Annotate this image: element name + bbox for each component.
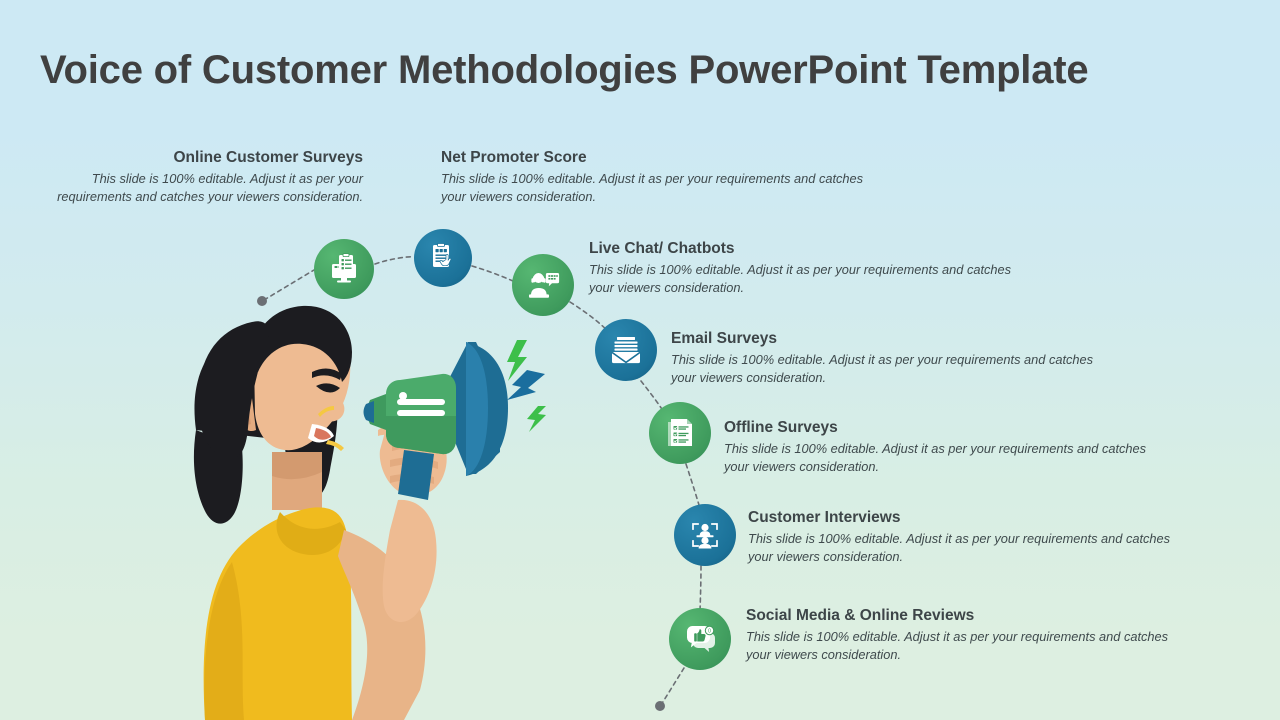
icon-node-social-media-online-reviews[interactable]: 0 (669, 608, 731, 670)
face (254, 312, 350, 450)
connector-segment-3 (472, 266, 513, 281)
checklist-document-icon (663, 416, 697, 450)
body-live-chat-chatbots: This slide is 100% editable. Adjust it a… (589, 261, 1014, 297)
heading-customer-interviews: Customer Interviews (748, 509, 1173, 527)
connector-endpoint-end (655, 701, 665, 711)
shout-marks (318, 406, 344, 451)
icon-node-online-customer-surveys[interactable] (314, 239, 374, 299)
body-customer-interviews: This slide is 100% editable. Adjust it a… (748, 530, 1173, 566)
text-block-live-chat-chatbots: Live Chat/ Chatbots This slide is 100% e… (589, 240, 1014, 297)
megaphone-body (386, 374, 456, 454)
megaphone-cap (367, 394, 386, 430)
connector-segment-7 (700, 566, 701, 613)
megaphone-horn-outer (466, 342, 508, 476)
megaphone-horn-light (466, 342, 488, 476)
icon-node-offline-surveys[interactable] (649, 402, 711, 464)
connector-segment-8 (661, 668, 684, 705)
page-title: Voice of Customer Methodologies PowerPoi… (40, 48, 1088, 93)
arm (338, 530, 425, 720)
svg-text:0: 0 (708, 629, 711, 635)
lightning-bolt-blue (507, 370, 545, 400)
megaphone-cap-blue (364, 401, 375, 423)
icon-node-customer-interviews[interactable] (674, 504, 736, 566)
body-online-customer-surveys: This slide is 100% editable. Adjust it a… (55, 170, 363, 206)
heading-offline-surveys: Offline Surveys (724, 419, 1149, 437)
text-block-online-customer-surveys: Online Customer Surveys This slide is 10… (55, 149, 363, 206)
lightning-bolt-green-top (507, 340, 527, 381)
icon-node-live-chat-chatbots[interactable] (512, 254, 574, 316)
text-block-offline-surveys: Offline Surveys This slide is 100% edita… (724, 419, 1149, 476)
megaphone-stripe-2 (397, 410, 445, 416)
eyebrow (312, 368, 342, 380)
megaphone-horn (438, 342, 500, 474)
body-social-media-online-reviews: This slide is 100% editable. Adjust it a… (746, 628, 1171, 664)
text-block-customer-interviews: Customer Interviews This slide is 100% e… (748, 509, 1173, 566)
shirt-collar (277, 512, 346, 555)
rating-clipboard-hand-icon (427, 242, 459, 274)
mouth-inner (314, 428, 331, 440)
shirt (204, 507, 352, 720)
chat-bubble (546, 273, 559, 286)
face-profile (324, 392, 344, 422)
forearm (383, 500, 437, 622)
text-block-email-surveys: Email Surveys This slide is 100% editabl… (671, 330, 1096, 387)
icon-node-email-surveys[interactable] (595, 319, 657, 381)
heading-net-promoter-score: Net Promoter Score (441, 149, 866, 167)
slide-canvas: Voice of Customer Methodologies PowerPoi… (0, 0, 1280, 720)
support-agent-chat-icon (525, 267, 561, 303)
heading-email-surveys: Email Surveys (671, 330, 1096, 348)
heading-online-customer-surveys: Online Customer Surveys (55, 149, 363, 167)
megaphone-handle (398, 450, 434, 500)
hair-side (198, 321, 269, 459)
hair-back (194, 326, 338, 524)
envelope-icon (608, 332, 644, 368)
text-block-social-media-online-reviews: Social Media & Online Reviews This slide… (746, 607, 1171, 664)
mouth (308, 424, 334, 443)
ear (236, 397, 256, 431)
megaphone-body-shade (386, 416, 456, 454)
heading-live-chat-chatbots: Live Chat/ Chatbots (589, 240, 1014, 258)
interview-people-icon (687, 517, 723, 553)
connector-segment-1 (264, 270, 314, 300)
hand-fist (378, 422, 447, 496)
eye (316, 383, 340, 392)
icon-node-net-promoter-score[interactable] (414, 229, 472, 287)
monitor-checklist-icon (327, 252, 361, 286)
ear-inner (241, 406, 251, 425)
megaphone-stripe-1 (397, 399, 445, 405)
neck (272, 452, 322, 510)
thumbs-up-chat-icon: 0 (682, 621, 718, 657)
body-offline-surveys: This slide is 100% editable. Adjust it a… (724, 440, 1149, 476)
shirt-shade (204, 562, 244, 720)
text-block-net-promoter-score: Net Promoter Score This slide is 100% ed… (441, 149, 866, 206)
body-email-surveys: This slide is 100% editable. Adjust it a… (671, 351, 1096, 387)
neck-shade (272, 452, 322, 479)
body-net-promoter-score: This slide is 100% editable. Adjust it a… (441, 170, 866, 206)
megaphone (364, 342, 509, 500)
hair-front (250, 306, 352, 382)
connector-segment-2 (375, 257, 414, 264)
heading-social-media-online-reviews: Social Media & Online Reviews (746, 607, 1171, 625)
lightning-bolts (507, 340, 546, 432)
lightning-bolt-green-bottom (527, 406, 546, 432)
megaphone-dot (399, 392, 407, 400)
connector-endpoint-start (257, 296, 267, 306)
